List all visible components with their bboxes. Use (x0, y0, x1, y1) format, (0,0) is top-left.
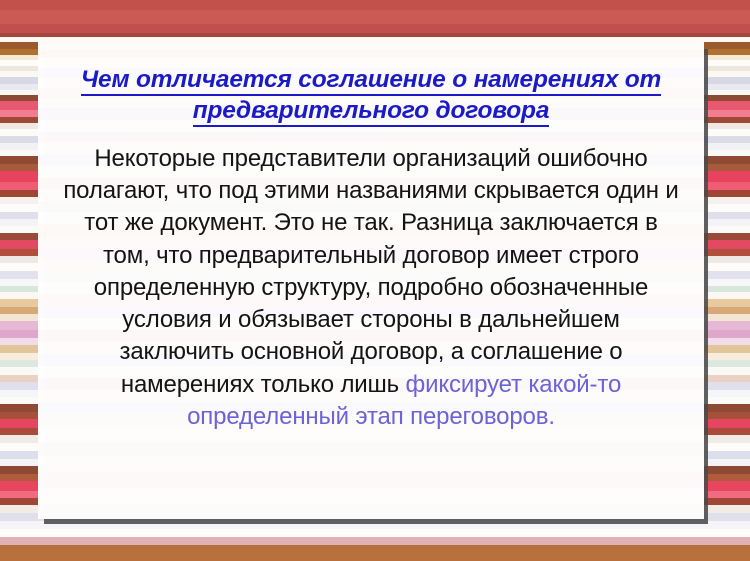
body-text-primary: Некоторые представители организаций ошиб… (63, 145, 678, 398)
slide-title-line-1-text: Чем отличается соглашение о намерениях о… (81, 66, 661, 96)
slide-body-paragraph: Некоторые представители организаций ошиб… (56, 143, 686, 433)
slide-title-line-1: Чем отличается соглашение о намерениях о… (56, 64, 686, 95)
slide-title-line-2: предварительного договора (56, 95, 686, 126)
slide-canvas: Чем отличается соглашение о намерениях о… (0, 0, 750, 561)
content-card-inner: Чем отличается соглашение о намерениях о… (38, 42, 704, 519)
slide-title: Чем отличается соглашение о намерениях о… (56, 64, 686, 127)
content-card: Чем отличается соглашение о намерениях о… (38, 42, 704, 519)
slide-title-line-2-text: предварительного договора (193, 97, 550, 127)
